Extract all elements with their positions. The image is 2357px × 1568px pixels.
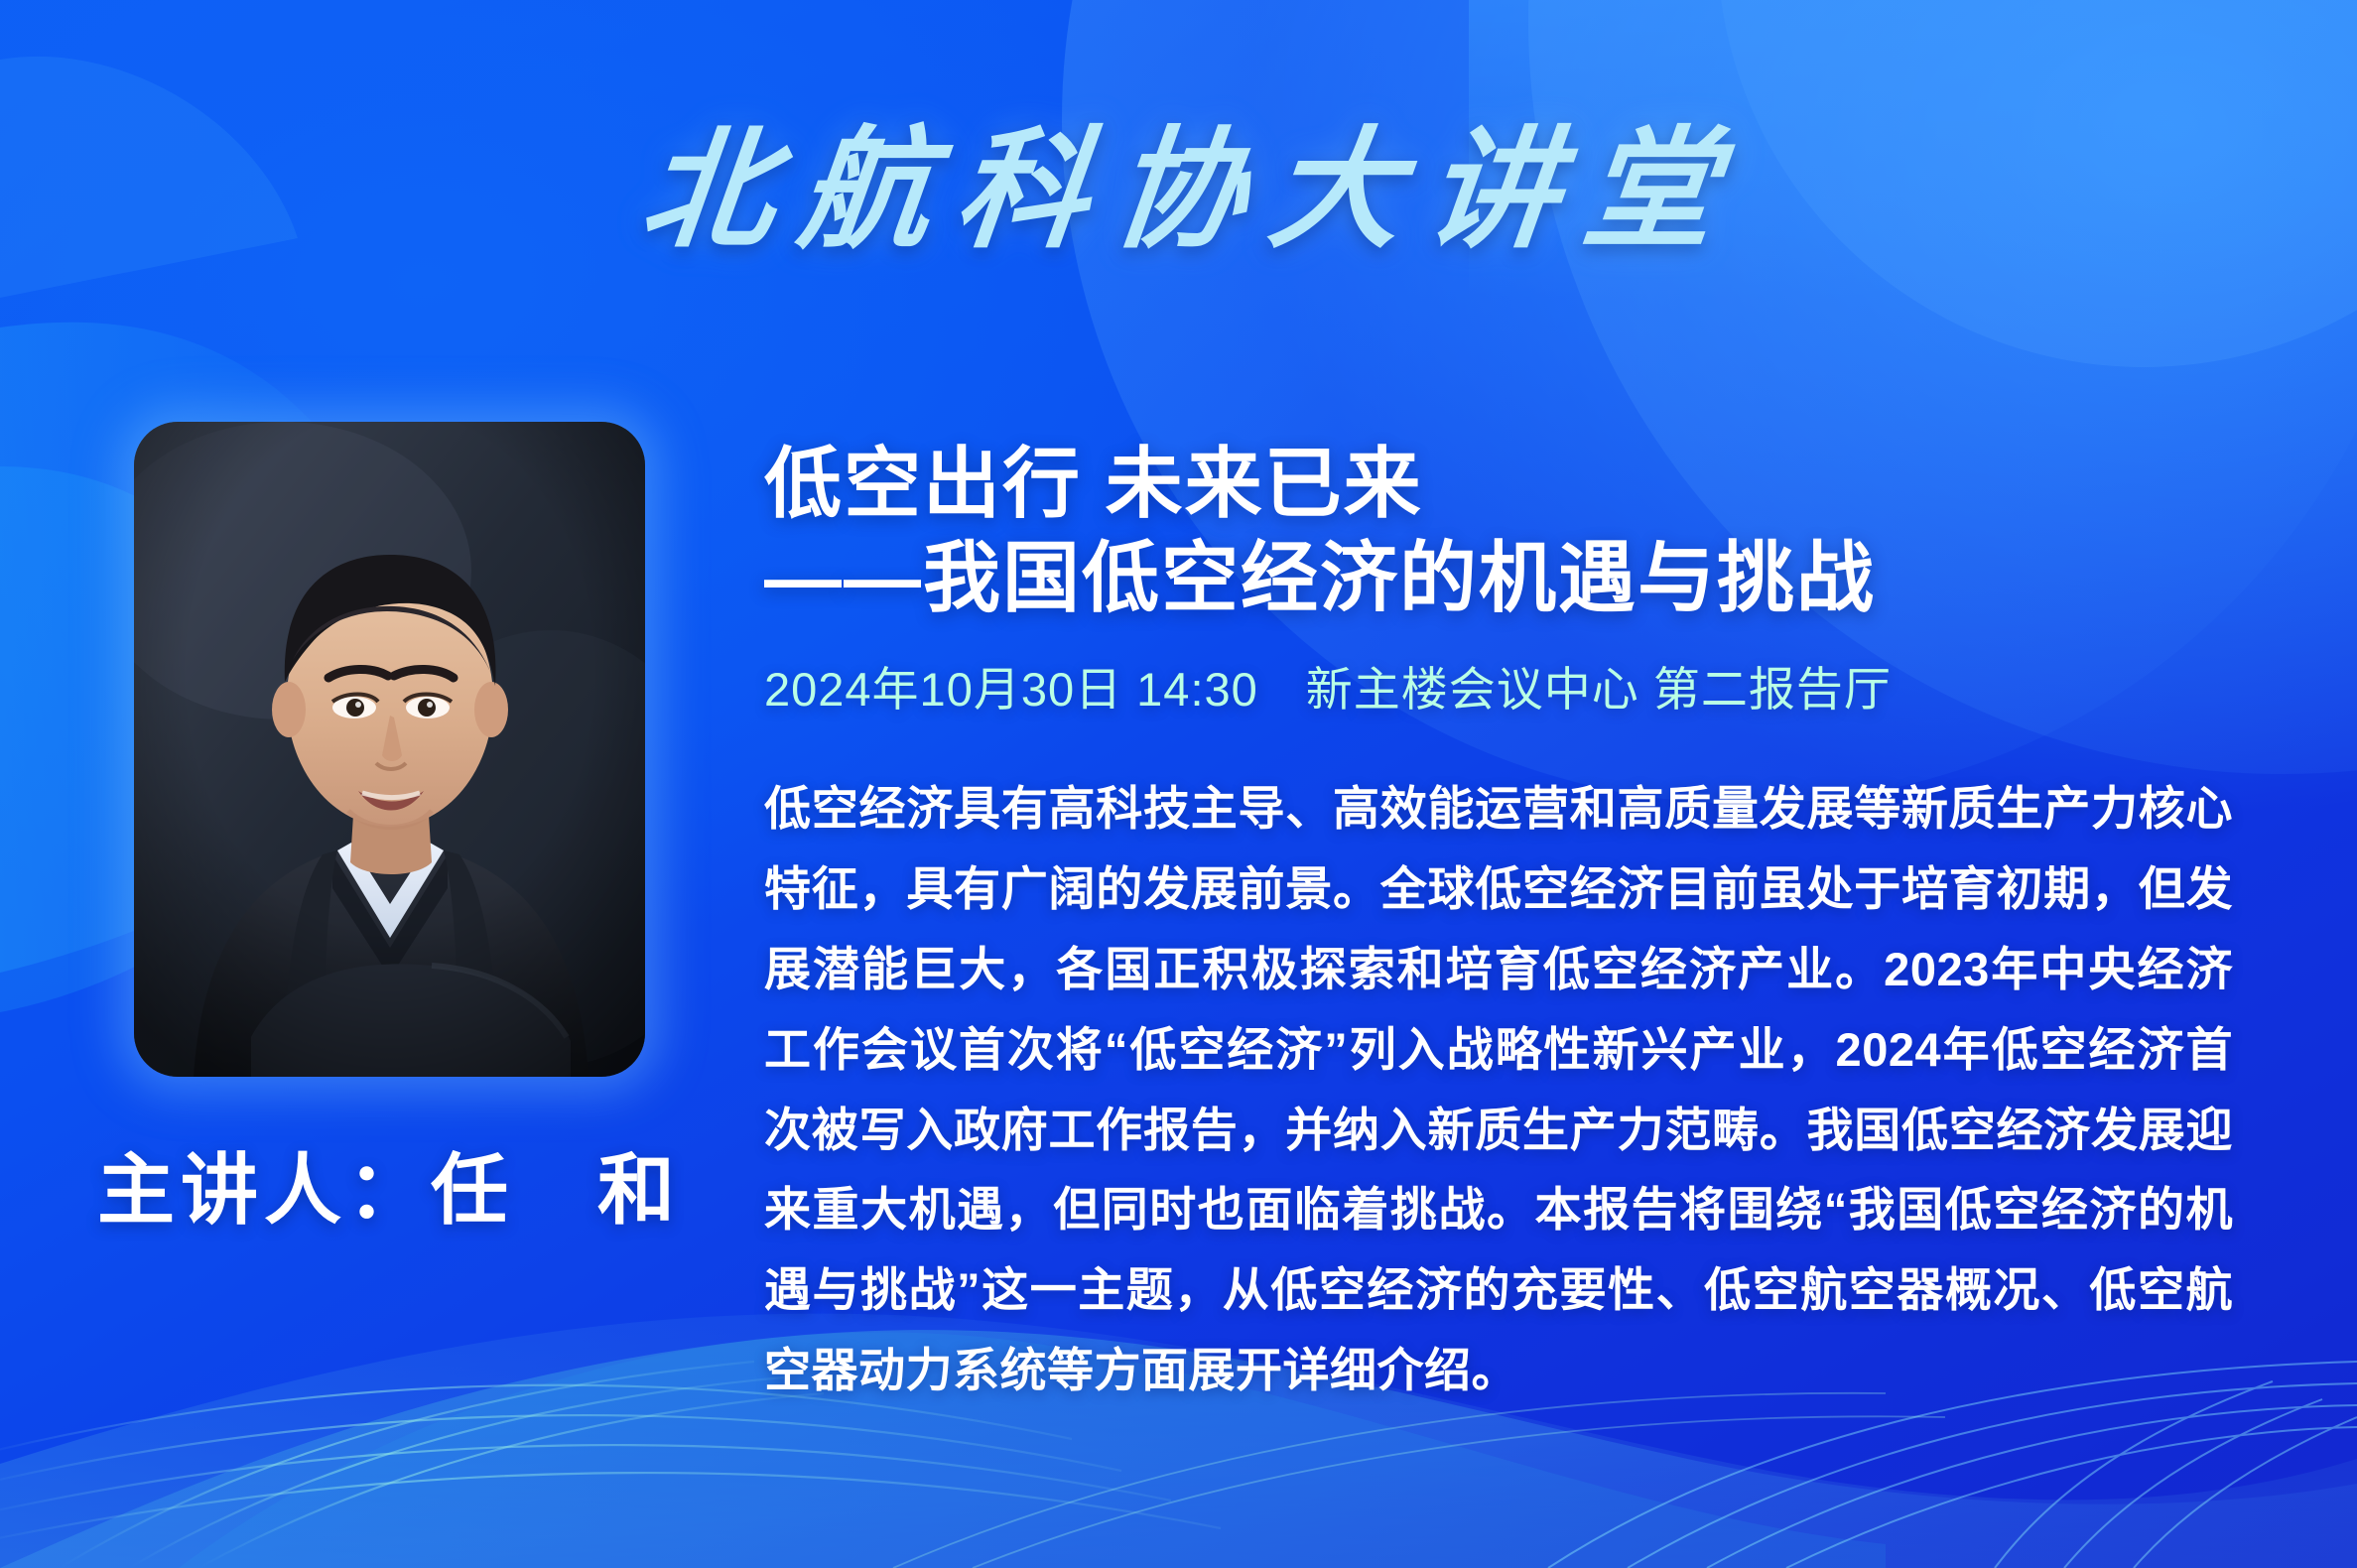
event-headline: 低空出行 未来已来 ——我国低空经济的机遇与挑战 [764,437,2253,625]
speaker-name-label: 主讲人：任 和 [91,1128,687,1240]
headline-line-2: ——我国低空经济的机遇与挑战 [764,531,2253,625]
avatar [134,422,645,1077]
speaker-portrait-frame [134,422,645,1077]
event-details: 低空出行 未来已来 ——我国低空经济的机遇与挑战 2024年10月30日 14:… [764,437,2253,1411]
event-meta: 2024年10月30日 14:30 新主楼会议中心 第二报告厅 [764,651,2253,719]
event-abstract: 低空经济具有高科技主导、高效能运营和高质量发展等新质生产力核心特征，具有广阔的发… [764,769,2233,1411]
speaker-block: 主讲人：任 和 [91,422,687,1240]
headline-line-1: 低空出行 未来已来 [764,440,1423,527]
event-poster: 北航科协大讲堂 [0,0,2357,1568]
